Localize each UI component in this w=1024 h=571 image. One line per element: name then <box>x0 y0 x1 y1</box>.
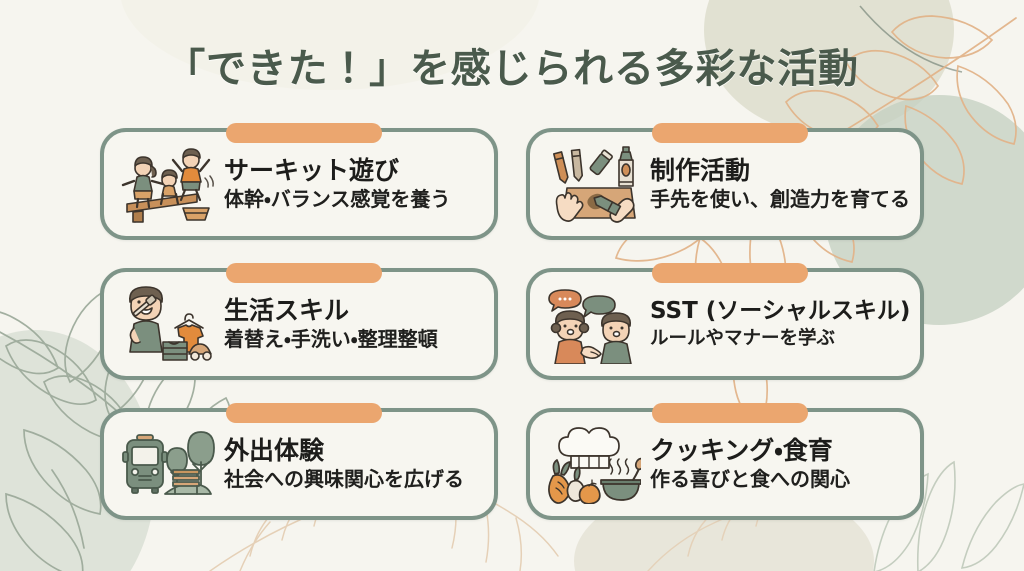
card-tab-accent <box>226 123 382 143</box>
card-title: SST (ソーシャルスキル) <box>650 299 906 325</box>
card-subtitle: 体幹・バランス感覚を養う <box>224 188 480 211</box>
card-text-group: 生活スキル 着替え・手洗い・整理整頓 <box>216 297 480 351</box>
chef-hat-bowl-vegetables-icon <box>546 422 642 506</box>
card-title: クッキング・食育 <box>650 437 906 465</box>
card-tab-accent <box>652 263 808 283</box>
card-title: 生活スキル <box>224 297 480 325</box>
activity-card-sst[interactable]: SST (ソーシャルスキル) ルールやマナーを学ぶ <box>526 268 924 380</box>
card-text-group: 制作活動 手先を使い、創造力を育てる <box>642 157 906 211</box>
card-tab-accent <box>652 403 808 423</box>
activity-card-grid: サーキット遊び 体幹・バランス感覚を養う <box>100 128 924 520</box>
card-subtitle: 手先を使い、創造力を育てる <box>650 188 906 211</box>
card-tab-accent <box>226 403 382 423</box>
activity-card-cooking[interactable]: クッキング・食育 作る喜びと食への関心 <box>526 408 924 520</box>
card-title: 外出体験 <box>224 437 480 465</box>
activity-card-outing[interactable]: 外出体験 社会への興味関心を広げる <box>100 408 498 520</box>
card-subtitle: 社会への興味関心を広げる <box>224 468 480 491</box>
card-text-group: SST (ソーシャルスキル) ルールやマナーを学ぶ <box>642 299 906 349</box>
activity-card-life-skills[interactable]: 生活スキル 着替え・手洗い・整理整頓 <box>100 268 498 380</box>
page-title: 「できた！」を感じられる多彩な活動 <box>0 36 1024 94</box>
toothbrush-clothes-icon <box>120 282 216 366</box>
card-subtitle: 着替え・手洗い・整理整頓 <box>224 328 480 351</box>
bus-park-bench-icon <box>120 422 216 506</box>
handshake-speech-bubble-icon <box>546 282 642 366</box>
card-text-group: 外出体験 社会への興味関心を広げる <box>216 437 480 491</box>
card-subtitle: ルールやマナーを学ぶ <box>650 328 906 349</box>
activity-card-circuit-play[interactable]: サーキット遊び 体幹・バランス感覚を養う <box>100 128 498 240</box>
card-text-group: クッキング・食育 作る喜びと食への関心 <box>642 437 906 491</box>
crayons-craft-icon <box>546 142 642 226</box>
card-text-group: サーキット遊び 体幹・バランス感覚を養う <box>216 157 480 211</box>
card-title: サーキット遊び <box>224 157 480 185</box>
activity-card-creative-work[interactable]: 制作活動 手先を使い、創造力を育てる <box>526 128 924 240</box>
card-title: 制作活動 <box>650 157 906 185</box>
card-subtitle: 作る喜びと食への関心 <box>650 468 906 491</box>
card-tab-accent <box>226 263 382 283</box>
card-tab-accent <box>652 123 808 143</box>
children-balance-beam-icon <box>120 142 216 226</box>
